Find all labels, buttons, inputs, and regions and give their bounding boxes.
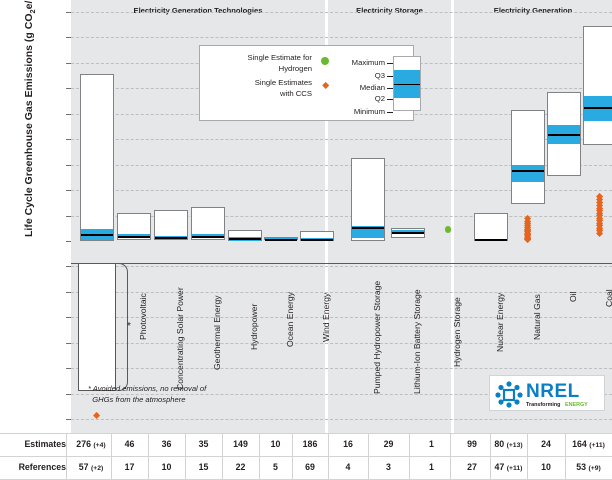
table-column-separator xyxy=(328,433,329,479)
median-line xyxy=(548,134,580,136)
box-plot-bar xyxy=(117,213,151,240)
y-axis-title-sub: 2 xyxy=(28,9,37,13)
legend-leader-dash xyxy=(387,112,393,113)
table-column-separator xyxy=(185,433,186,479)
box-plot-bar xyxy=(191,207,225,241)
legend-hydrogen-line1: Single Estimate for xyxy=(247,53,312,62)
y-tick-mark xyxy=(66,216,71,217)
x-axis-category-label: Natural Gas xyxy=(532,294,542,340)
legend-orange-diamond-icon xyxy=(321,82,329,90)
table-cell: 80 (+13) xyxy=(490,433,527,456)
table-rowlabel-references: References xyxy=(0,456,66,479)
table-column-separator xyxy=(259,433,260,479)
y-tick-mark xyxy=(66,317,71,318)
median-line xyxy=(512,170,544,172)
y-tick-mark xyxy=(66,139,71,140)
table-cell: 10 xyxy=(259,433,292,456)
legend-hydrogen-line2: Hydrogen xyxy=(279,64,312,73)
table-column-separator xyxy=(111,433,112,479)
gridline xyxy=(71,37,612,38)
median-line xyxy=(352,227,384,229)
legend-label-q3: Q3 xyxy=(375,71,385,80)
table-cell: 17 xyxy=(111,456,148,479)
table-cell: 276 (+4) xyxy=(71,433,111,456)
table-cell: 99 xyxy=(454,433,490,456)
box-plot-bar xyxy=(228,230,262,241)
median-line xyxy=(155,237,187,239)
gridline xyxy=(71,12,612,13)
footnote-line2: GHGs from the atmosphere xyxy=(92,395,185,404)
table-cell: 27 xyxy=(454,456,490,479)
table-cell: 47 (+11) xyxy=(490,456,527,479)
chart-figure: Electricity Generation Technologies Powe… xyxy=(0,0,612,479)
box-plot-bar xyxy=(80,74,114,241)
x-axis-category-label: Oil xyxy=(568,291,578,302)
hydrogen-estimate-dot xyxy=(445,226,452,233)
table-cell: 10 xyxy=(148,456,185,479)
table-cell: 16 xyxy=(328,433,368,456)
gridline xyxy=(71,368,612,369)
gridline xyxy=(71,317,612,318)
y-tick-mark xyxy=(66,88,71,89)
box-plot-bar xyxy=(547,92,581,176)
median-line xyxy=(301,239,333,241)
legend-item-hydrogen: Single Estimate for Hydrogen xyxy=(207,53,312,74)
median-line xyxy=(392,232,424,234)
median-line xyxy=(192,236,224,238)
table-column-separator xyxy=(292,433,293,479)
table-column-separator xyxy=(148,433,149,479)
footnote-line1: * Avoided emissions, no removal of xyxy=(88,384,206,393)
box-plot-bar xyxy=(391,228,425,239)
nrel-tagline-energy: ENERGY xyxy=(565,402,588,408)
y-tick-mark xyxy=(66,292,71,293)
summary-table: Estimates References 276 (+4)46363514910… xyxy=(0,433,612,479)
y-tick-mark xyxy=(66,165,71,166)
table-column-separator xyxy=(565,433,566,479)
table-cell: 35 xyxy=(185,433,222,456)
y-axis-title-part2: e/kWh) xyxy=(23,0,35,9)
chart-footnote: * Avoided emissions, no removal of GHGs … xyxy=(88,383,288,405)
y-tick-mark xyxy=(66,63,71,64)
table-cell: 46 xyxy=(111,433,148,456)
table-column-separator xyxy=(409,433,410,479)
table-column-separator xyxy=(450,433,451,479)
table-cell: 15 xyxy=(185,456,222,479)
y-tick-mark xyxy=(66,368,71,369)
box-plot-bar xyxy=(300,231,334,241)
legend-median-line xyxy=(394,84,420,85)
table-column-separator xyxy=(368,433,369,479)
table-cell: 10 xyxy=(527,456,565,479)
table-cell: 1 xyxy=(409,456,454,479)
table-column-separator xyxy=(66,433,67,479)
box-plot-bar xyxy=(511,110,545,204)
legend-item-ccs: Single Estimates with CCS xyxy=(207,78,312,99)
table-cell: 53 (+9) xyxy=(565,456,612,479)
x-axis-category-label: Hydropower xyxy=(249,304,259,350)
box-plot-bar xyxy=(474,213,508,241)
box-plot-bar xyxy=(351,158,385,241)
median-line xyxy=(265,239,297,241)
x-axis-category-label: Wind Energy xyxy=(321,293,331,342)
zero-line xyxy=(71,263,612,264)
median-line xyxy=(584,107,612,109)
y-tick-mark xyxy=(66,343,71,344)
iqr-band xyxy=(512,165,544,182)
gridline xyxy=(71,292,612,293)
nrel-tagline-transforming: Transforming xyxy=(526,402,560,408)
table-cell: 1 xyxy=(409,433,454,456)
legend-label-maximum: Maximum xyxy=(352,58,385,67)
table-cell: 22 xyxy=(222,456,259,479)
table-cell: 69 xyxy=(292,456,328,479)
box-plot-bar xyxy=(583,26,612,146)
x-axis-category-label: Geothermal Energy xyxy=(212,295,222,370)
x-axis-category-label: Photovoltaic xyxy=(138,293,148,340)
y-tick-mark xyxy=(66,12,71,13)
table-column-separator xyxy=(527,433,528,479)
biopower-footnote-star: * xyxy=(127,321,131,332)
table-cell: 36 xyxy=(148,433,185,456)
legend-label-minimum: Minimum xyxy=(354,107,385,116)
y-tick-mark xyxy=(66,419,71,420)
legend-label-q2: Q2 xyxy=(375,94,385,103)
x-axis-category-label: Coal xyxy=(604,289,612,307)
median-line xyxy=(475,239,507,241)
x-axis-category-label: Concentrating Solar Power xyxy=(175,287,185,390)
gridline xyxy=(71,216,612,217)
nrel-emblem-icon xyxy=(494,380,524,408)
x-axis-category-label: Pumped Hydropower Storage xyxy=(372,281,382,394)
table-column-separator xyxy=(222,433,223,479)
x-axis-category-label: Ocean Energy xyxy=(285,292,295,347)
table-cell: 164 (+11) xyxy=(565,433,612,456)
y-tick-mark xyxy=(66,241,71,242)
table-column-separator xyxy=(490,433,491,479)
y-tick-mark xyxy=(66,190,71,191)
y-tick-mark xyxy=(66,266,71,267)
x-axis-category-label: Hydrogen Storage xyxy=(452,297,462,367)
median-line xyxy=(81,234,113,236)
legend-box-sample xyxy=(393,56,421,111)
table-cell: 186 xyxy=(292,433,328,456)
nrel-wordmark: NREL xyxy=(526,381,580,403)
gridline xyxy=(71,419,612,420)
table-rowlabel-estimates: Estimates xyxy=(0,433,66,456)
y-tick-mark xyxy=(66,394,71,395)
median-line xyxy=(229,238,261,240)
box-plot-bar xyxy=(264,237,298,240)
box-plot-bar xyxy=(154,210,188,240)
table-cell: 3 xyxy=(368,456,409,479)
x-axis-category-label: Lithium-Ion Battery Storage xyxy=(412,289,422,394)
legend-ccs-line1: Single Estimates xyxy=(255,78,312,87)
y-tick-mark xyxy=(66,37,71,38)
chart-legend: Single Estimate for Hydrogen Single Esti… xyxy=(199,45,414,121)
y-axis-title-part1: Life Cycle Greenhouse Gas Emissions (g C… xyxy=(23,14,35,237)
table-cell: 4 xyxy=(328,456,368,479)
gridline xyxy=(71,266,612,267)
legend-green-dot-icon xyxy=(321,57,329,65)
nrel-logo: NREL Transforming ENERGY xyxy=(489,375,605,411)
table-cell: 57 (+2) xyxy=(71,456,111,479)
x-axis-category-label: Nuclear Energy xyxy=(495,293,505,352)
table-cell: 149 xyxy=(222,433,259,456)
gridline xyxy=(71,343,612,344)
y-tick-mark xyxy=(66,114,71,115)
legend-ccs-line2: with CCS xyxy=(280,89,312,98)
table-cell: 29 xyxy=(368,433,409,456)
biopower-negative-box xyxy=(78,263,116,391)
median-line xyxy=(118,236,150,238)
legend-label-median: Median xyxy=(360,83,385,92)
y-axis-title: Life Cycle Greenhouse Gas Emissions (g C… xyxy=(23,0,37,237)
table-cell: 24 xyxy=(527,433,565,456)
legend-left-labels: Single Estimate for Hydrogen Single Esti… xyxy=(207,53,312,103)
table-cell: 5 xyxy=(259,456,292,479)
